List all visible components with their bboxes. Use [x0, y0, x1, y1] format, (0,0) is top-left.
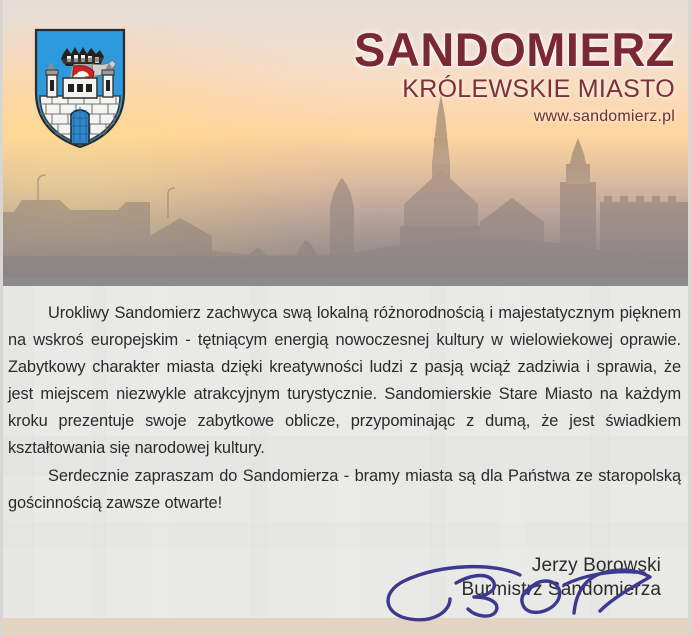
header-titles: SANDOMIERZ KRÓLEWSKIE MIASTO www.sandomi… — [354, 26, 675, 126]
letter-paragraph-1: Urokliwy Sandomierz zachwyca swą lokalną… — [8, 300, 681, 462]
sandomierz-coat-of-arms — [30, 26, 130, 151]
signatory-name: Jerzy Borowski — [461, 554, 661, 578]
signature-block: Jerzy Borowski Burmistrz Sandomierza — [461, 554, 661, 602]
page-subtitle: KRÓLEWSKIE MIASTO — [354, 76, 675, 104]
website-url[interactable]: www.sandomierz.pl — [354, 108, 675, 126]
paragraph-1-text: Urokliwy Sandomierz zachwyca swą lokalną… — [8, 304, 681, 457]
page-title: SANDOMIERZ — [354, 26, 675, 74]
footer-band — [0, 618, 691, 635]
letter-paragraph-2: Serdecznie zapraszam do Sandomierza - br… — [8, 463, 681, 517]
paragraph-2-text: Serdecznie zapraszam do Sandomierza - br… — [8, 467, 681, 512]
sandomierz-promo-card: SANDOMIERZ KRÓLEWSKIE MIASTO www.sandomi… — [0, 0, 691, 635]
header-photo-sunset-skyline: SANDOMIERZ KRÓLEWSKIE MIASTO www.sandomi… — [0, 0, 691, 286]
photo-divider-band — [0, 277, 691, 286]
photo-haze-overlay — [0, 136, 691, 286]
letter-body: Urokliwy Sandomierz zachwyca swą lokalną… — [0, 286, 691, 618]
signatory-role: Burmistrz Sandomierza — [461, 578, 661, 602]
